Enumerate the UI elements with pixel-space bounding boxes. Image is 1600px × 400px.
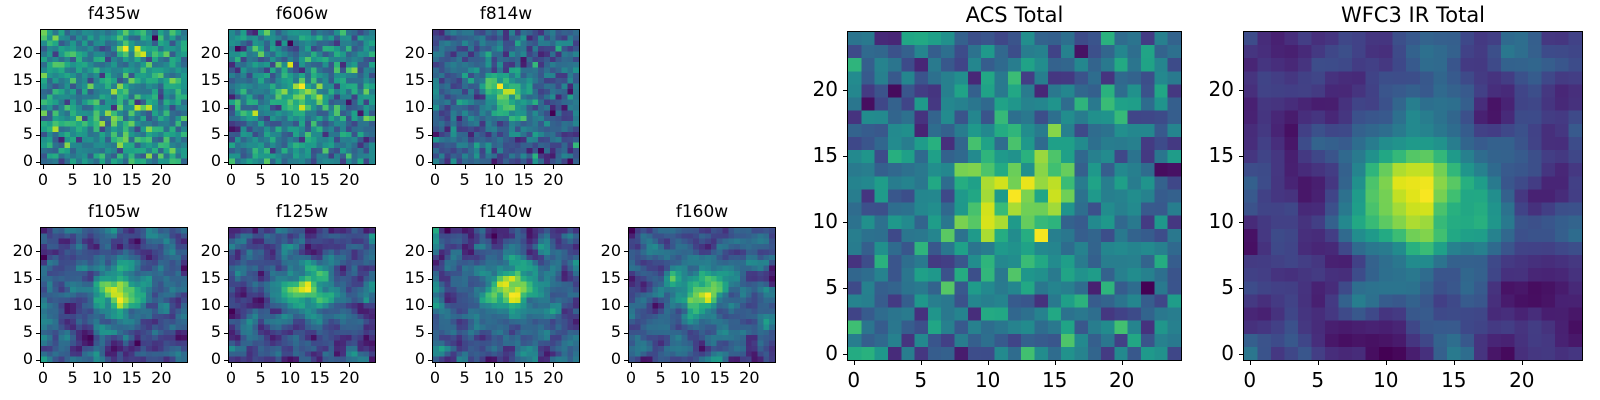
xtick-mark: [231, 363, 232, 367]
ytick-label: 0: [161, 153, 221, 169]
ytick-mark: [624, 306, 628, 307]
panel-f125w: f125w0055101015152020: [0, 0, 1600, 400]
ytick-label: 0: [778, 343, 838, 363]
ytick-label: 20: [0, 243, 33, 259]
xtick-mark: [73, 165, 74, 169]
xtick-label: 5: [891, 370, 951, 390]
ytick-mark: [1239, 222, 1243, 223]
ytick-mark: [624, 333, 628, 334]
ytick-mark: [224, 81, 228, 82]
axes-f160w: [628, 227, 776, 363]
xtick-mark: [349, 165, 350, 169]
xtick-label: 15: [102, 172, 162, 188]
xtick-mark: [161, 363, 162, 367]
xtick-label: 5: [435, 172, 495, 188]
xtick-label: 10: [464, 172, 524, 188]
xtick-label: 0: [13, 370, 73, 386]
ytick-mark: [224, 108, 228, 109]
xtick-label: 20: [1092, 370, 1152, 390]
ytick-mark: [843, 354, 847, 355]
ytick-label: 0: [0, 153, 33, 169]
ytick-label: 5: [1174, 277, 1234, 297]
xtick-label: 5: [435, 370, 495, 386]
ytick-label: 5: [778, 277, 838, 297]
ytick-label: 15: [0, 72, 33, 88]
heatmap-f105w: [41, 228, 187, 362]
xtick-label: 10: [1356, 370, 1416, 390]
xtick-label: 20: [319, 172, 379, 188]
ytick-mark: [1239, 90, 1243, 91]
panel-title-f140w: f140w: [432, 204, 580, 221]
panel-title-f125w: f125w: [228, 204, 376, 221]
xtick-label: 5: [43, 370, 103, 386]
xtick-mark: [1122, 361, 1123, 365]
xtick-label: 10: [72, 172, 132, 188]
ytick-label: 10: [778, 211, 838, 231]
ytick-label: 10: [0, 99, 33, 115]
xtick-label: 5: [231, 172, 291, 188]
heatmap-acs-total: [848, 32, 1181, 360]
axes-f140w: [432, 227, 580, 363]
panel-title-f435w: f435w: [40, 6, 188, 23]
ytick-label: 10: [0, 297, 33, 313]
xtick-mark: [320, 363, 321, 367]
xtick-label: 15: [102, 370, 162, 386]
xtick-label: 10: [660, 370, 720, 386]
ytick-mark: [624, 251, 628, 252]
xtick-mark: [854, 361, 855, 365]
xtick-mark: [921, 361, 922, 365]
panel-f435w: f435w0055101015152020: [0, 0, 1600, 400]
axes-f125w: [228, 227, 376, 363]
ytick-mark: [428, 53, 432, 54]
xtick-label: 0: [201, 370, 261, 386]
ytick-mark: [224, 251, 228, 252]
panel-f140w: f140w0055101015152020: [0, 0, 1600, 400]
ytick-mark: [843, 288, 847, 289]
xtick-label: 20: [523, 370, 583, 386]
xtick-mark: [43, 165, 44, 169]
xtick-label: 0: [1220, 370, 1280, 390]
xtick-label: 20: [719, 370, 779, 386]
panel-wfc3-ir-total: WFC3 IR Total0055101015152020: [0, 0, 1600, 400]
ytick-label: 5: [561, 324, 621, 340]
xtick-label: 20: [319, 370, 379, 386]
ytick-mark: [843, 222, 847, 223]
panel-title-wfc3-ir-total: WFC3 IR Total: [1243, 5, 1583, 26]
ytick-mark: [224, 279, 228, 280]
ytick-mark: [36, 360, 40, 361]
xtick-label: 10: [958, 370, 1018, 390]
ytick-mark: [36, 162, 40, 163]
ytick-label: 10: [365, 297, 425, 313]
xtick-label: 5: [43, 172, 103, 188]
ytick-mark: [428, 279, 432, 280]
xtick-mark: [290, 363, 291, 367]
ytick-mark: [1239, 354, 1243, 355]
ytick-mark: [36, 135, 40, 136]
xtick-mark: [720, 363, 721, 367]
ytick-mark: [224, 306, 228, 307]
panel-title-f606w: f606w: [228, 6, 376, 23]
panel-title-f814w: f814w: [432, 6, 580, 23]
xtick-label: 20: [131, 172, 191, 188]
ytick-label: 5: [0, 126, 33, 142]
ytick-label: 20: [365, 243, 425, 259]
xtick-mark: [73, 363, 74, 367]
heatmap-f814w: [433, 30, 579, 164]
xtick-mark: [524, 165, 525, 169]
ytick-label: 20: [0, 45, 33, 61]
xtick-label: 15: [494, 172, 554, 188]
xtick-mark: [231, 165, 232, 169]
heatmap-wfc3-ir-total: [1244, 32, 1582, 360]
xtick-label: 20: [131, 370, 191, 386]
heatmap-f160w: [629, 228, 775, 362]
ytick-mark: [224, 333, 228, 334]
xtick-mark: [1055, 361, 1056, 365]
xtick-mark: [261, 363, 262, 367]
ytick-label: 5: [0, 324, 33, 340]
ytick-mark: [224, 162, 228, 163]
xtick-mark: [1386, 361, 1387, 365]
ytick-mark: [624, 279, 628, 280]
ytick-mark: [36, 279, 40, 280]
ytick-mark: [624, 360, 628, 361]
xtick-mark: [1318, 361, 1319, 365]
xtick-label: 15: [494, 370, 554, 386]
xtick-mark: [749, 363, 750, 367]
ytick-label: 15: [161, 270, 221, 286]
ytick-label: 10: [161, 99, 221, 115]
ytick-mark: [428, 251, 432, 252]
xtick-label: 0: [405, 172, 465, 188]
xtick-mark: [690, 363, 691, 367]
ytick-label: 15: [1174, 145, 1234, 165]
ytick-mark: [428, 333, 432, 334]
xtick-label: 15: [1424, 370, 1484, 390]
xtick-mark: [349, 363, 350, 367]
ytick-mark: [843, 156, 847, 157]
xtick-label: 20: [523, 172, 583, 188]
ytick-mark: [36, 306, 40, 307]
xtick-mark: [465, 363, 466, 367]
ytick-mark: [36, 108, 40, 109]
xtick-mark: [553, 165, 554, 169]
xtick-label: 10: [72, 370, 132, 386]
ytick-mark: [428, 360, 432, 361]
xtick-label: 0: [601, 370, 661, 386]
xtick-mark: [102, 165, 103, 169]
ytick-label: 15: [161, 72, 221, 88]
xtick-label: 0: [201, 172, 261, 188]
ytick-label: 0: [365, 351, 425, 367]
ytick-mark: [224, 135, 228, 136]
xtick-mark: [661, 363, 662, 367]
xtick-mark: [132, 165, 133, 169]
panel-f105w: f105w0055101015152020: [0, 0, 1600, 400]
xtick-label: 5: [231, 370, 291, 386]
ytick-label: 0: [561, 351, 621, 367]
xtick-label: 0: [13, 172, 73, 188]
xtick-label: 5: [631, 370, 691, 386]
xtick-mark: [43, 363, 44, 367]
heatmap-f606w: [229, 30, 375, 164]
xtick-mark: [494, 165, 495, 169]
ytick-mark: [1239, 288, 1243, 289]
xtick-label: 5: [1288, 370, 1348, 390]
axes-f814w: [432, 29, 580, 165]
ytick-label: 20: [365, 45, 425, 61]
ytick-mark: [224, 53, 228, 54]
ytick-label: 10: [561, 297, 621, 313]
xtick-label: 15: [290, 370, 350, 386]
ytick-label: 20: [561, 243, 621, 259]
xtick-mark: [161, 165, 162, 169]
panel-f160w: f160w0055101015152020: [0, 0, 1600, 400]
xtick-mark: [435, 363, 436, 367]
ytick-label: 5: [161, 324, 221, 340]
xtick-mark: [1454, 361, 1455, 365]
ytick-label: 5: [161, 126, 221, 142]
axes-acs-total: [847, 31, 1182, 361]
heatmap-f435w: [41, 30, 187, 164]
xtick-mark: [132, 363, 133, 367]
xtick-mark: [290, 165, 291, 169]
ytick-label: 5: [365, 126, 425, 142]
xtick-mark: [102, 363, 103, 367]
xtick-label: 15: [690, 370, 750, 386]
xtick-label: 15: [1025, 370, 1085, 390]
axes-wfc3-ir-total: [1243, 31, 1583, 361]
xtick-mark: [553, 363, 554, 367]
ytick-mark: [36, 251, 40, 252]
xtick-mark: [261, 165, 262, 169]
panel-f606w: f606w0055101015152020: [0, 0, 1600, 400]
figure-canvas: f435w0055101015152020f606w00551010151520…: [0, 0, 1600, 400]
ytick-mark: [1239, 156, 1243, 157]
panel-title-acs-total: ACS Total: [847, 5, 1182, 26]
xtick-mark: [465, 165, 466, 169]
xtick-mark: [494, 363, 495, 367]
ytick-mark: [224, 360, 228, 361]
panel-f814w: f814w0055101015152020: [0, 0, 1600, 400]
ytick-mark: [428, 81, 432, 82]
ytick-label: 15: [0, 270, 33, 286]
ytick-mark: [428, 135, 432, 136]
axes-f435w: [40, 29, 188, 165]
ytick-label: 15: [561, 270, 621, 286]
ytick-label: 10: [1174, 211, 1234, 231]
xtick-label: 10: [260, 172, 320, 188]
xtick-mark: [1522, 361, 1523, 365]
ytick-label: 0: [0, 351, 33, 367]
xtick-label: 10: [464, 370, 524, 386]
ytick-mark: [428, 108, 432, 109]
ytick-label: 0: [161, 351, 221, 367]
xtick-mark: [320, 165, 321, 169]
xtick-label: 20: [1492, 370, 1552, 390]
ytick-label: 15: [365, 270, 425, 286]
ytick-label: 20: [161, 243, 221, 259]
xtick-label: 0: [405, 370, 465, 386]
axes-f105w: [40, 227, 188, 363]
ytick-mark: [428, 306, 432, 307]
ytick-mark: [36, 333, 40, 334]
ytick-mark: [36, 81, 40, 82]
xtick-label: 15: [290, 172, 350, 188]
ytick-mark: [36, 53, 40, 54]
ytick-label: 15: [778, 145, 838, 165]
panel-title-f105w: f105w: [40, 204, 188, 221]
ytick-label: 5: [365, 324, 425, 340]
ytick-label: 10: [161, 297, 221, 313]
heatmap-f125w: [229, 228, 375, 362]
ytick-mark: [428, 162, 432, 163]
ytick-label: 20: [1174, 79, 1234, 99]
xtick-label: 10: [260, 370, 320, 386]
ytick-label: 0: [1174, 343, 1234, 363]
xtick-label: 0: [824, 370, 884, 390]
ytick-label: 20: [778, 79, 838, 99]
ytick-label: 15: [365, 72, 425, 88]
axes-f606w: [228, 29, 376, 165]
panel-title-f160w: f160w: [628, 204, 776, 221]
ytick-label: 10: [365, 99, 425, 115]
xtick-mark: [435, 165, 436, 169]
heatmap-f140w: [433, 228, 579, 362]
ytick-mark: [843, 90, 847, 91]
ytick-label: 0: [365, 153, 425, 169]
xtick-mark: [988, 361, 989, 365]
panel-acs-total: ACS Total0055101015152020: [0, 0, 1600, 400]
xtick-mark: [631, 363, 632, 367]
xtick-mark: [524, 363, 525, 367]
ytick-label: 20: [161, 45, 221, 61]
xtick-mark: [1250, 361, 1251, 365]
